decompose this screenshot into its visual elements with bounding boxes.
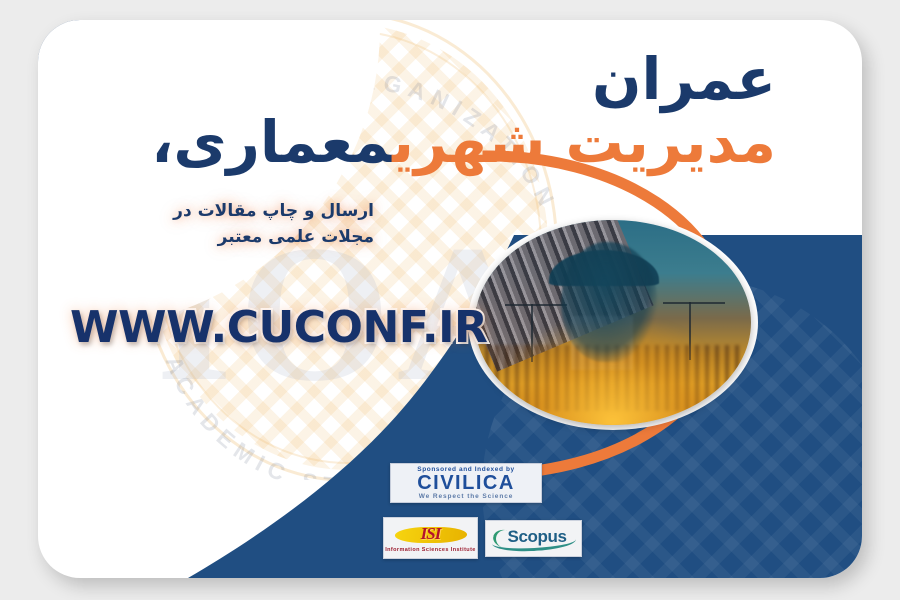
title-line-2-blue: معماری، — [151, 108, 392, 176]
civilica-name: CIVILICA — [417, 473, 515, 493]
scopus-mark: Scopus — [492, 526, 576, 552]
poster-subtitle: ارسال و چاپ مقالات در مجلات علمی معتبر — [144, 198, 374, 251]
poster-stage: IOAS INTERNATIONAL ORGANIZATION OF ACADE… — [0, 0, 900, 600]
worker-silhouette-icon — [561, 242, 657, 362]
poster-title: عمران مدیریت شهریمعماری، — [151, 48, 776, 173]
title-line-2: مدیریت شهریمعماری، — [151, 111, 776, 174]
isi-name: ISI — [421, 524, 441, 544]
isi-caption: Information Sciences Institute — [385, 547, 476, 553]
title-line-2-orange: مدیریت شهری — [392, 108, 776, 176]
website-url[interactable]: WWW.CUCONF.IR — [70, 302, 487, 353]
subtitle-line-2: مجلات علمی معتبر — [144, 224, 374, 250]
subtitle-line-1: ارسال و چاپ مقالات در — [144, 198, 374, 224]
scopus-logo[interactable]: Scopus — [485, 520, 582, 557]
isi-logo[interactable]: ISI Information Sciences Institute — [383, 517, 478, 559]
isi-mark: ISI — [395, 523, 467, 545]
title-line-1: عمران — [151, 48, 776, 111]
scopus-name: Scopus — [508, 527, 567, 547]
oval-photo — [475, 220, 751, 425]
poster-card: IOAS INTERNATIONAL ORGANIZATION OF ACADE… — [38, 20, 862, 578]
civilica-logo[interactable]: Sponsored and Indexed by CIVILICA We Res… — [390, 463, 542, 503]
civilica-tagline: We Respect the Science — [419, 493, 513, 500]
